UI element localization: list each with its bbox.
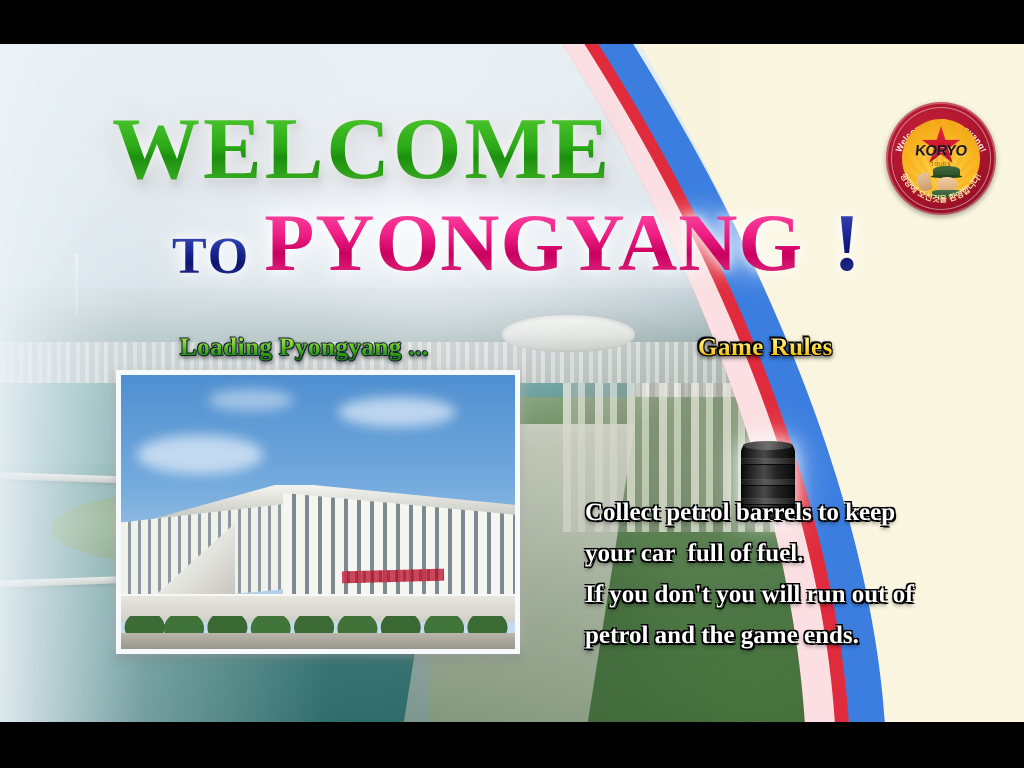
page-title-city: PYONGYANG xyxy=(264,196,803,290)
page-title-welcome: WELCOME xyxy=(112,99,612,200)
game-window: WELCOME TO PYONGYANG ! Loading Pyongyang… xyxy=(0,0,1024,768)
preview-building-signage xyxy=(341,568,444,582)
barrel-band xyxy=(741,480,795,485)
page-title-to: TO xyxy=(172,227,250,286)
logo-arc-bottom-text: 평양에 오신것을 환영합니다! xyxy=(899,171,984,204)
preview-cloud xyxy=(338,397,456,427)
letterbox-bottom xyxy=(0,722,1024,768)
logo-arc-bottom: 평양에 오신것을 환영합니다! xyxy=(886,102,996,215)
preview-plaza xyxy=(121,633,515,649)
svg-text:평양에 오신것을 환영합니다!: 평양에 오신것을 환영합니다! xyxy=(899,171,984,204)
game-rules-heading: Game Rules xyxy=(698,334,833,362)
letterbox-top xyxy=(0,0,1024,44)
page-title-line2: TO PYONGYANG ! xyxy=(172,196,861,290)
preview-cloud xyxy=(208,389,295,411)
loading-preview-image xyxy=(116,370,520,654)
splash-stage: WELCOME TO PYONGYANG ! Loading Pyongyang… xyxy=(0,44,1024,722)
game-rules-body: Collect petrol barrels to keep your car … xyxy=(585,492,995,656)
koryo-tours-logo: Welcome to Pyongyang! KORYO TOURS 평양에 오신… xyxy=(886,102,996,215)
loading-status-label: Loading Pyongyang ... xyxy=(180,334,429,362)
barrel-band xyxy=(741,459,795,464)
preview-cloud xyxy=(137,435,263,473)
page-title-exclamation: ! xyxy=(833,196,860,290)
barrel-lid xyxy=(743,441,793,450)
